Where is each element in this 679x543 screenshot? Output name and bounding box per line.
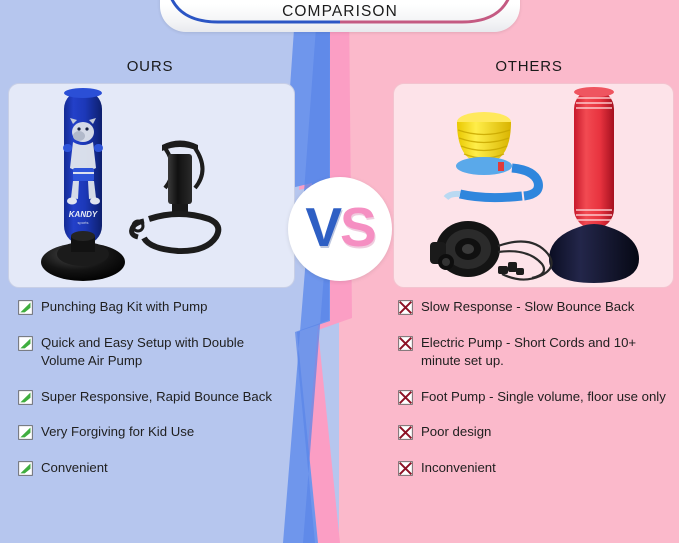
list-item-label: Foot Pump - Single volume, floor use onl… xyxy=(421,388,666,407)
cross-icon xyxy=(398,461,413,476)
punching-bag-art: KANDY sports xyxy=(41,88,125,281)
cross-icon xyxy=(398,336,413,351)
check-icon xyxy=(18,390,33,405)
list-item: Convenient xyxy=(18,459,290,478)
cross-icon xyxy=(398,300,413,315)
list-item-label: Poor design xyxy=(421,423,491,442)
vs-letter-s: S xyxy=(340,196,375,258)
svg-text:KANDY: KANDY xyxy=(69,210,98,219)
column-header-others: OTHERS xyxy=(379,58,679,75)
electric-pump-art xyxy=(430,221,552,280)
vs-badge: VS xyxy=(288,177,392,281)
banner: COMPARISON xyxy=(160,0,520,32)
others-product-image xyxy=(394,84,673,287)
svg-text:sports: sports xyxy=(78,220,89,225)
list-item-label: Inconvenient xyxy=(421,459,496,478)
list-item-label: Convenient xyxy=(41,459,108,478)
ours-feature-list: Punching Bag Kit with Pump Quick and Eas… xyxy=(18,298,290,494)
left-product-card: KANDY sports xyxy=(8,83,295,288)
list-item: Very Forgiving for Kid Use xyxy=(18,423,290,442)
check-icon xyxy=(18,336,33,351)
foot-pump-art xyxy=(446,112,538,198)
cross-icon xyxy=(398,390,413,405)
check-icon xyxy=(18,300,33,315)
ours-product-image: KANDY sports xyxy=(9,84,294,287)
list-item: Slow Response - Slow Bounce Back xyxy=(398,298,666,317)
list-item-label: Super Responsive, Rapid Bounce Back xyxy=(41,388,272,407)
comparison-infographic: COMPARISON OURS OTHERS xyxy=(0,0,679,543)
list-item: Electric Pump - Short Cords and 10+ minu… xyxy=(398,334,666,371)
list-item-label: Punching Bag Kit with Pump xyxy=(41,298,207,317)
hand-pump-art xyxy=(132,141,219,252)
list-item-label: Electric Pump - Short Cords and 10+ minu… xyxy=(421,334,666,371)
banner-title: COMPARISON xyxy=(282,3,398,32)
list-item: Poor design xyxy=(398,423,666,442)
check-icon xyxy=(18,461,33,476)
list-item: Super Responsive, Rapid Bounce Back xyxy=(18,388,290,407)
list-item: Inconvenient xyxy=(398,459,666,478)
vs-letter-v: V xyxy=(305,196,340,258)
list-item-label: Slow Response - Slow Bounce Back xyxy=(421,298,634,317)
cross-icon xyxy=(398,425,413,440)
list-item: Punching Bag Kit with Pump xyxy=(18,298,290,317)
red-punching-bag-art xyxy=(549,87,639,283)
others-feature-list: Slow Response - Slow Bounce Back Electri… xyxy=(398,298,666,494)
check-icon xyxy=(18,425,33,440)
list-item: Foot Pump - Single volume, floor use onl… xyxy=(398,388,666,407)
column-header-ours: OURS xyxy=(0,58,300,75)
right-product-card xyxy=(393,83,674,288)
list-item-label: Quick and Easy Setup with Double Volume … xyxy=(41,334,290,371)
list-item-label: Very Forgiving for Kid Use xyxy=(41,423,194,442)
list-item: Quick and Easy Setup with Double Volume … xyxy=(18,334,290,371)
